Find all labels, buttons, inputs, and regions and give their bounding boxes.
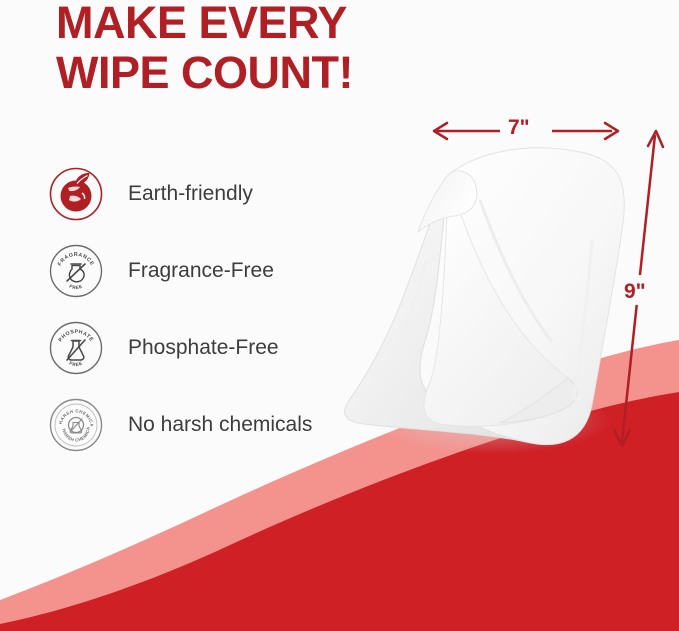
dimension-height-label: 9" bbox=[624, 280, 646, 304]
feature-label-no-harsh-chemicals: No harsh chemicals bbox=[128, 413, 312, 437]
svg-text:NO HARSH CHEMICALS: NO HARSH CHEMICALS bbox=[48, 397, 91, 443]
feature-label-earth-friendly: Earth-friendly bbox=[128, 182, 253, 206]
headline-line-1: MAKE EVERY bbox=[56, 0, 616, 48]
headline-line-2: WIPE COUNT! bbox=[56, 48, 616, 98]
page-title: MAKE EVERY WIPE COUNT! bbox=[56, 0, 616, 98]
no-harsh-chemicals-icon: NO HARSH CHEMICALS NO HARSH CHEMICALS bbox=[48, 397, 104, 453]
earth-globe-leaf-icon bbox=[48, 166, 104, 222]
svg-text:FREE: FREE bbox=[69, 283, 84, 290]
fragrance-free-icon: FRAGRANCE FREE bbox=[48, 243, 104, 299]
svg-text:FREE: FREE bbox=[69, 360, 84, 367]
feature-label-fragrance-free: Fragrance-Free bbox=[128, 259, 274, 283]
feature-item-no-harsh-chemicals: NO HARSH CHEMICALS NO HARSH CHEMICALS No… bbox=[48, 386, 398, 463]
product-infographic: 7" 9" MAKE EVERY WIPE COUNT! Earth-frien… bbox=[0, 0, 679, 631]
dimension-width-label: 7" bbox=[508, 116, 530, 140]
feature-list: Earth-friendly FRAGRANCE FREE bbox=[48, 155, 398, 463]
feature-label-phosphate-free: Phosphate-Free bbox=[128, 336, 279, 360]
phosphate-free-flask-icon: PHOSPHATE FREE bbox=[48, 320, 104, 376]
feature-item-earth-friendly: Earth-friendly bbox=[48, 155, 398, 232]
feature-item-fragrance-free: FRAGRANCE FREE Fragrance-Free bbox=[48, 232, 398, 309]
feature-item-phosphate-free: PHOSPHATE FREE Phosphate-Free bbox=[48, 309, 398, 386]
